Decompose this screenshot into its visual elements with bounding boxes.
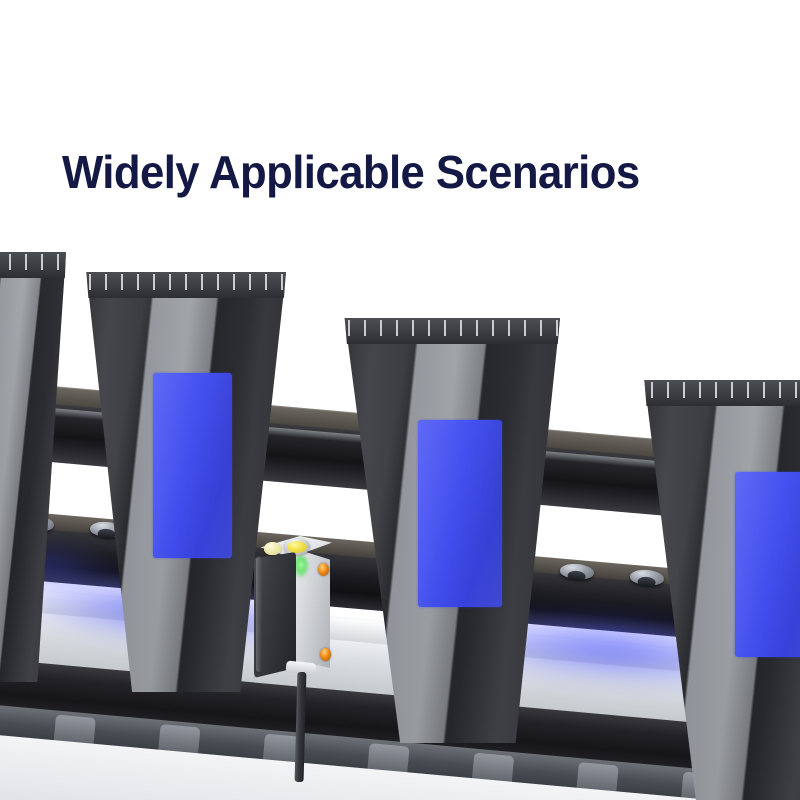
- sensor-adjustment-dial[interactable]: [284, 538, 310, 555]
- pouch-top-seal: [78, 272, 286, 298]
- pouch-blue-label: [153, 373, 232, 558]
- pouch-label-sheen: [418, 420, 502, 607]
- pouch-body: [0, 252, 66, 682]
- pouch-body: [640, 380, 800, 800]
- pouch-blue-label: [735, 472, 800, 657]
- sensor-screw-top: [318, 563, 329, 576]
- pouch-seal-serration: [78, 274, 286, 290]
- pouch-sheen: [0, 252, 66, 682]
- pouch-body: [338, 318, 560, 743]
- pouch-top-seal: [640, 380, 800, 406]
- pouch-body: [78, 272, 286, 692]
- pouch-top-seal: [338, 318, 560, 344]
- pouch-label-sheen: [153, 373, 232, 558]
- sensor-screw-bottom: [320, 648, 331, 661]
- pouch-label-sheen: [735, 472, 800, 657]
- pouch-top-seal: [0, 252, 66, 278]
- product-pouch: [338, 318, 560, 743]
- scene-root: Widely Applicable Scenarios: [0, 0, 800, 800]
- pouch-blue-label: [418, 420, 502, 607]
- product-pouch: [0, 252, 66, 682]
- pouch-seal-serration: [338, 320, 560, 336]
- pouch-seal-serration: [640, 382, 800, 398]
- product-pouch: [640, 380, 800, 800]
- product-scene-illustration: [0, 230, 800, 800]
- product-pouch: [78, 272, 286, 692]
- page-title: Widely Applicable Scenarios: [62, 146, 640, 198]
- pouch-seal-serration: [0, 254, 66, 270]
